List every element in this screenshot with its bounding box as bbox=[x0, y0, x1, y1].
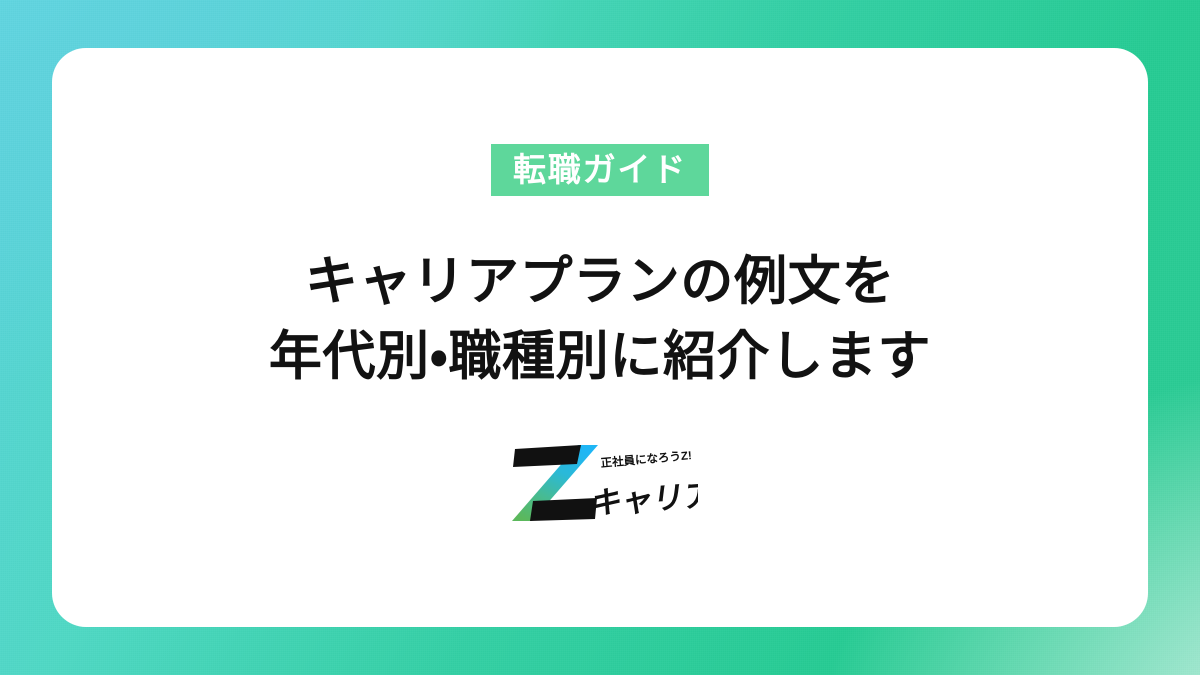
content-card: 転職ガイド キャリアプランの例文を 年代別・職種別に紹介します bbox=[52, 48, 1148, 627]
headline-line-2: 年代別・職種別に紹介します bbox=[269, 319, 931, 394]
logo-wordmark: キャリア bbox=[589, 477, 698, 520]
z-career-logo-svg: 正社員になろうZ! キャリア bbox=[502, 441, 698, 525]
headline-line-1: キャリアプランの例文を bbox=[269, 244, 931, 319]
z-mark-icon bbox=[512, 445, 598, 521]
z-career-logo: 正社員になろうZ! キャリア bbox=[502, 441, 698, 525]
page-title: キャリアプランの例文を 年代別・職種別に紹介します bbox=[269, 244, 931, 395]
logo-tagline: 正社員になろうZ! bbox=[600, 448, 692, 470]
category-badge: 転職ガイド bbox=[491, 144, 709, 196]
